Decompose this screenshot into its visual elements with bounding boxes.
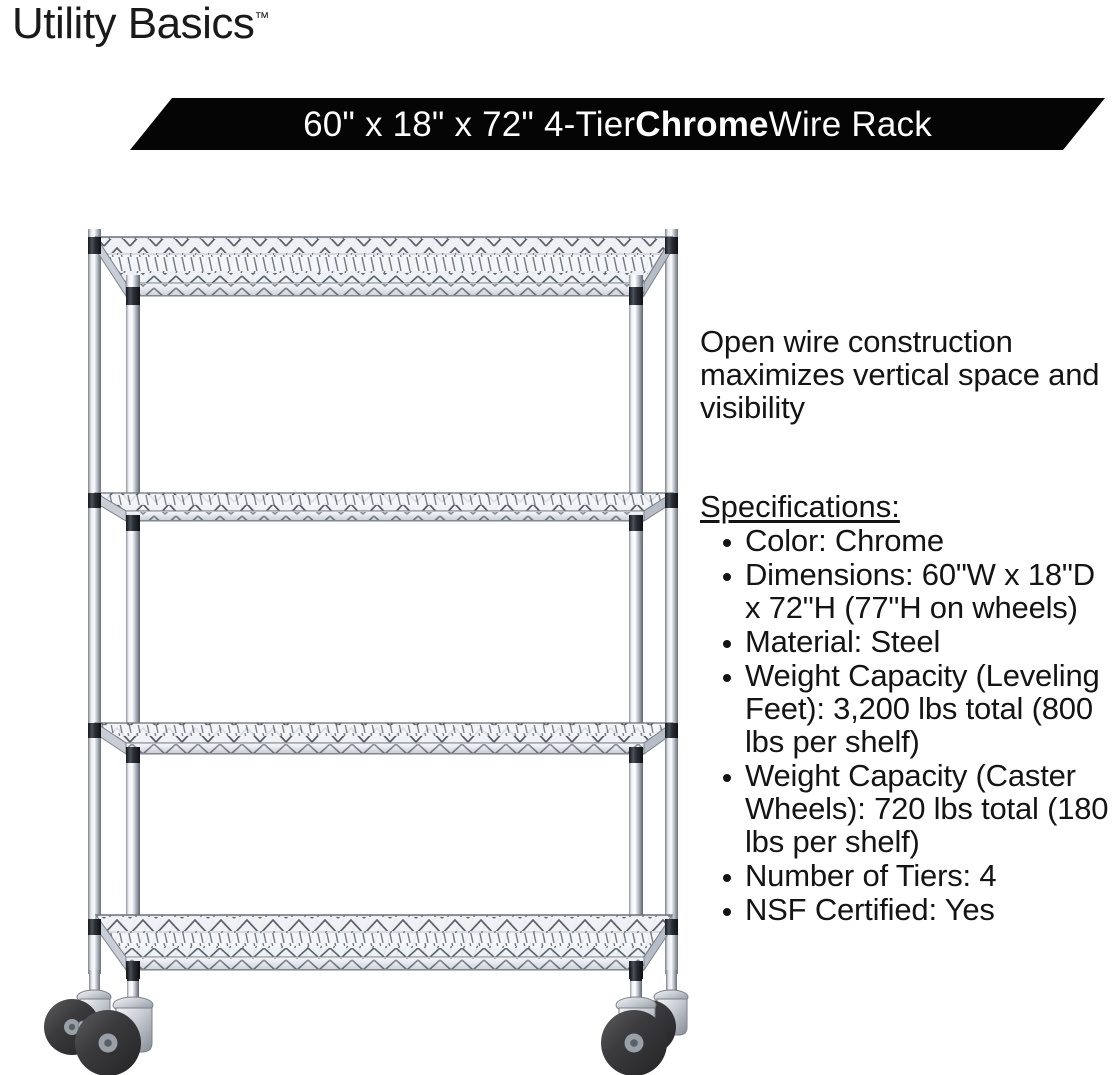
specifications-list: Color: Chrome Dimensions: 60"W x 18"D x …: [700, 524, 1110, 926]
list-item: Weight Capacity (Leveling Feet): 3,200 l…: [700, 659, 1110, 758]
trademark-symbol: ™: [254, 9, 269, 26]
rear-posts: [88, 229, 678, 974]
banner-title-emphasis: Chrome: [635, 107, 768, 142]
list-item: Number of Tiers: 4: [700, 859, 1110, 892]
wire-rack-illustration: [0, 215, 700, 1075]
banner-title: 60" x 18" x 72" 4-Tier Chrome Wire Rack: [130, 98, 1105, 150]
copy-column: Open wire construction maximizes vertica…: [700, 325, 1110, 926]
shelf-tier-4: [96, 915, 672, 970]
title-banner: 60" x 18" x 72" 4-Tier Chrome Wire Rack: [0, 98, 1114, 154]
list-item: NSF Certified: Yes: [700, 893, 1110, 926]
headline-text: Open wire construction maximizes vertica…: [700, 325, 1110, 424]
list-item: Weight Capacity (Caster Wheels): 720 lbs…: [700, 759, 1110, 858]
caster-wheel-front-right: [601, 967, 667, 1075]
front-posts: [126, 275, 643, 975]
banner-title-prefix: 60" x 18" x 72" 4-Tier: [303, 107, 635, 142]
shelf-tier-3: [96, 723, 672, 754]
specifications-heading: Specifications:: [700, 490, 900, 523]
shelf-tier-1: [96, 237, 672, 296]
product-image: [0, 215, 700, 1075]
list-item: Color: Chrome: [700, 524, 1110, 557]
list-item: Dimensions: 60"W x 18"D x 72"H (77"H on …: [700, 558, 1110, 624]
banner-title-suffix: Wire Rack: [769, 107, 932, 142]
brand-logo: Utility Basics™: [12, 2, 269, 46]
caster-wheel-front-left: [75, 967, 153, 1075]
shelf-tier-2: [96, 493, 672, 521]
brand-name: Utility Basics: [12, 0, 254, 48]
list-item: Material: Steel: [700, 625, 1110, 658]
